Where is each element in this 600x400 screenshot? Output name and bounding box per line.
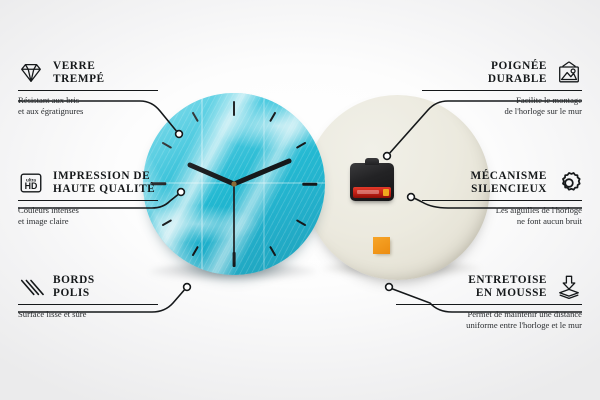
feature-subtitle-1: Résistant aux bris: [18, 95, 158, 105]
feature-subtitle-2: de l'horloge sur le mur: [422, 106, 582, 116]
title-rule: [18, 90, 158, 92]
feature-subtitle-2: ne font aucun bruit: [422, 216, 582, 226]
feature-entretoise-en-mousse: ENTRETOISE EN MOUSSE Permet de maintenir…: [396, 274, 582, 330]
feature-subtitle-2: et aux égratignures: [18, 106, 158, 116]
feature-bords-polis: BORDS POLIS Surface lisse et sûre: [18, 274, 158, 320]
feature-mecanisme-silencieux: MÉCANISME SILENCIEUX Les aiguilles de l'…: [422, 170, 582, 226]
battery: [353, 187, 391, 198]
feature-subtitle-1: Couleurs intenses: [18, 205, 158, 215]
feature-header: POIGNÉE DURABLE: [422, 60, 582, 87]
glass-gloss: [143, 93, 325, 275]
diamond-icon: [18, 60, 44, 86]
battery-label: [357, 190, 379, 194]
product-photo: [135, 85, 465, 305]
title-rule: [422, 90, 582, 92]
feature-subtitle-1: Les aiguilles de l'horloge: [422, 205, 582, 215]
feature-impression-haute-qualite: ultra HD IMPRESSION DE HAUTE QUALITÉ Cou…: [18, 170, 158, 226]
feature-subtitle-2: uniforme entre l'horloge et le mur: [396, 320, 582, 330]
diagonal-stripes-icon: [18, 274, 44, 300]
feature-header: VERRE TREMPÉ: [18, 60, 158, 87]
feature-verre-trempe: VERRE TREMPÉ Résistant aux bris et aux é…: [18, 60, 158, 116]
title-rule: [18, 200, 158, 202]
feature-title: VERRE TREMPÉ: [53, 60, 105, 87]
feature-title: ENTRETOISE EN MOUSSE: [468, 274, 547, 301]
battery-plus-terminal: [383, 189, 389, 196]
arrow-onto-layers-icon: [556, 274, 582, 300]
title-rule: [18, 304, 158, 306]
title-rule: [396, 304, 582, 306]
gear-icon: [556, 170, 582, 196]
feature-subtitle-2: et image claire: [18, 216, 158, 226]
title-rule: [422, 200, 582, 202]
feature-title: POIGNÉE DURABLE: [488, 60, 547, 87]
mechanism-hanger-tab: [365, 158, 379, 165]
feature-header: BORDS POLIS: [18, 274, 158, 301]
clock-mechanism: [350, 163, 394, 201]
feature-title: MÉCANISME SILENCIEUX: [471, 170, 548, 197]
feature-title: BORDS POLIS: [53, 274, 95, 301]
framed-picture-hanger-icon: [556, 60, 582, 86]
feature-poignee-durable: POIGNÉE DURABLE Facilite le montage de l…: [422, 60, 582, 116]
clock-face: [143, 93, 325, 275]
feature-header: MÉCANISME SILENCIEUX: [422, 170, 582, 197]
feature-header: ENTRETOISE EN MOUSSE: [396, 274, 582, 301]
infographic-canvas: VERRE TREMPÉ Résistant aux bris et aux é…: [0, 0, 600, 400]
feature-title: IMPRESSION DE HAUTE QUALITÉ: [53, 170, 155, 197]
ultra-hd-icon-large-text: HD: [25, 182, 38, 192]
feature-subtitle-1: Permet de maintenir une distance: [396, 309, 582, 319]
feature-header: ultra HD IMPRESSION DE HAUTE QUALITÉ: [18, 170, 158, 197]
ultra-hd-icon: ultra HD: [18, 170, 44, 196]
feature-subtitle-1: Facilite le montage: [422, 95, 582, 105]
feature-subtitle-1: Surface lisse et sûre: [18, 309, 158, 319]
foam-spacer: [373, 237, 390, 254]
